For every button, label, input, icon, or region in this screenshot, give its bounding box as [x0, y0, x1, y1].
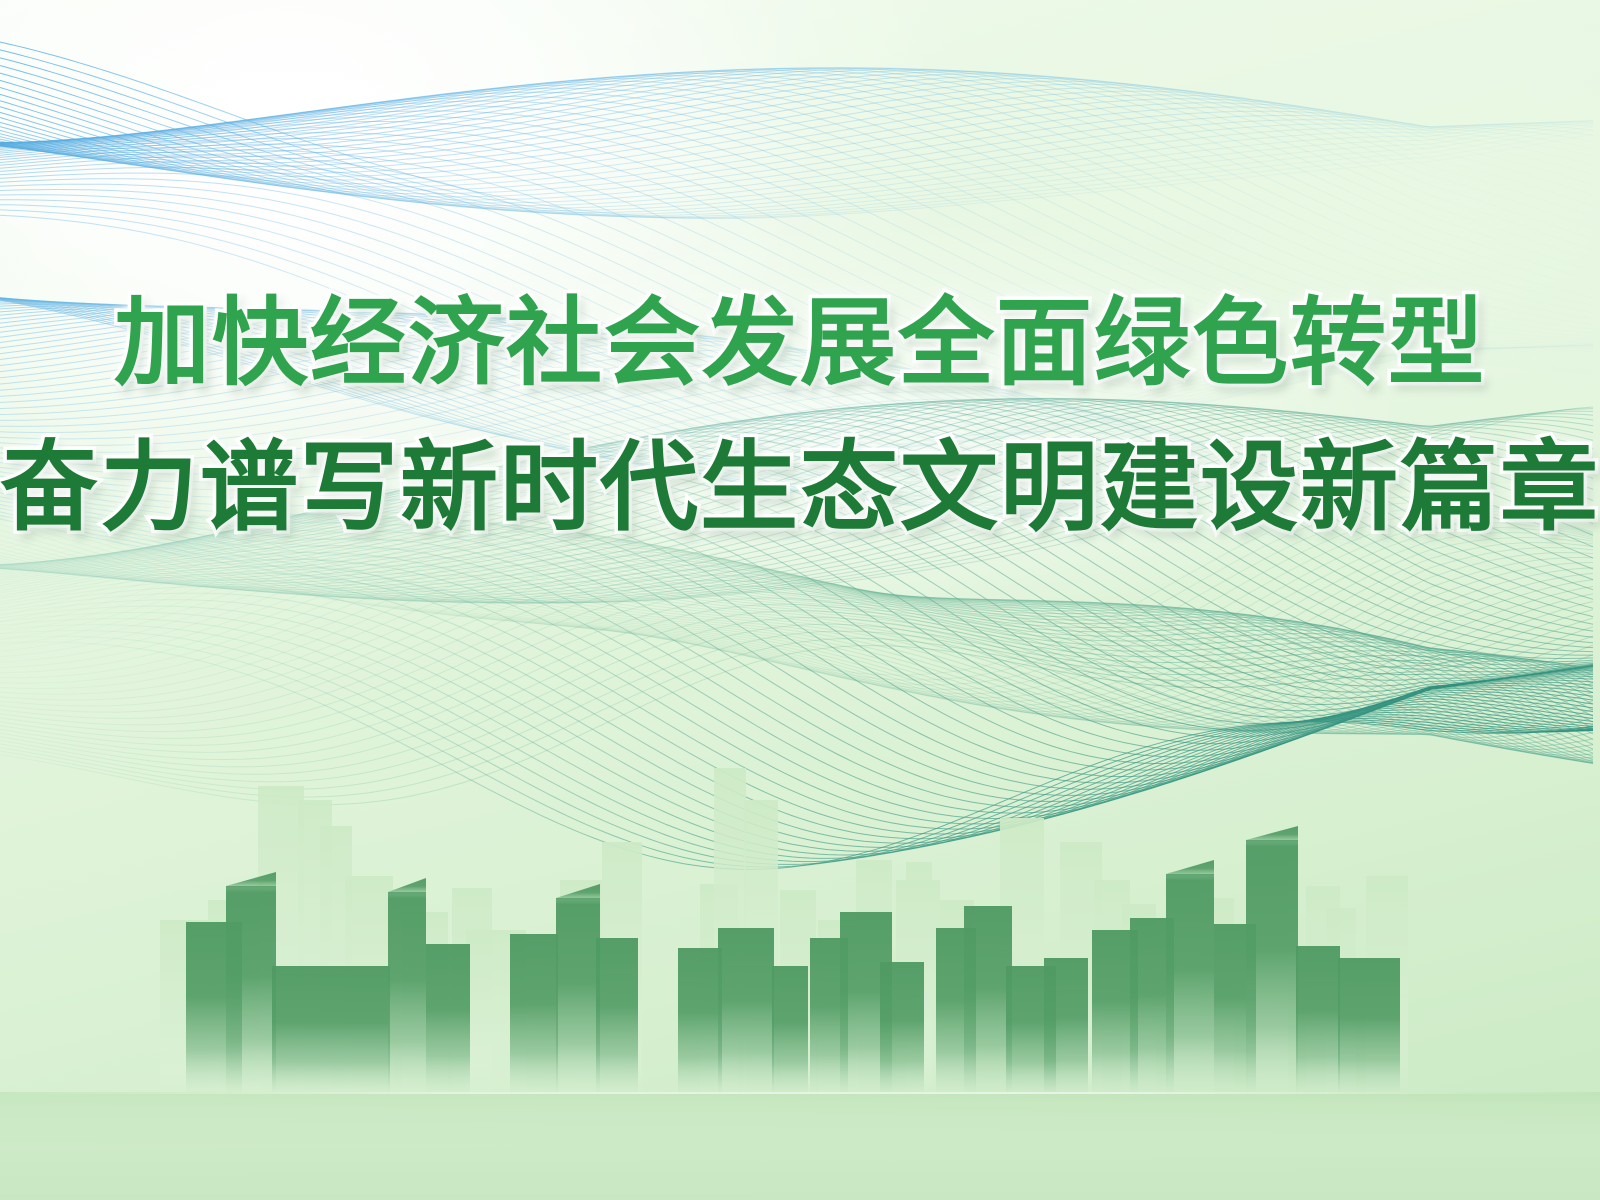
mesh-line [0, 424, 1593, 675]
poster-canvas: 加快经济社会发展全面绿色转型 奋力谱写新时代生态文明建设新篇章 [0, 0, 1600, 1200]
mesh-line [0, 103, 1593, 191]
mesh-line [0, 515, 1593, 733]
mesh-line [0, 517, 1593, 694]
mesh-line [0, 115, 1593, 200]
mesh-line [0, 519, 1593, 750]
city-skyline-silhouette [0, 0, 1600, 1200]
mesh-line [0, 518, 1593, 783]
mesh-line [0, 303, 1593, 508]
mesh-line [0, 517, 1593, 725]
building [1326, 908, 1356, 1100]
mesh-line [0, 309, 1593, 523]
mesh-line [0, 409, 1593, 659]
mesh-line [0, 646, 1593, 805]
mesh-line [0, 392, 1593, 581]
mesh-line [0, 446, 1593, 705]
mesh-line [0, 420, 1593, 601]
mesh-line [0, 580, 1593, 834]
mesh-line [0, 423, 1593, 570]
mesh-line [0, 299, 1593, 464]
building-roof [1166, 860, 1214, 880]
mesh-line [0, 101, 1593, 356]
mesh-line [0, 399, 1593, 590]
mesh-line [0, 516, 1593, 702]
mesh-line [0, 515, 1593, 734]
ground-plane [0, 1092, 1600, 1200]
mesh-line [0, 502, 1593, 680]
building [1168, 872, 1200, 1100]
mesh-line [0, 308, 1593, 521]
mesh-line [0, 408, 1593, 594]
mesh-line [0, 403, 1593, 648]
mesh-line [0, 511, 1593, 776]
mesh-line [0, 532, 1593, 764]
mesh-line [0, 88, 1593, 213]
mesh-line [0, 341, 1593, 574]
mesh-line [0, 210, 1593, 449]
building [1044, 958, 1088, 1100]
mesh-line [0, 88, 1593, 344]
mesh-line [0, 91, 1593, 185]
mesh-line [0, 399, 1593, 624]
mesh-line [0, 99, 1593, 187]
building [345, 876, 393, 1100]
mesh-line [0, 300, 1593, 459]
mesh-line [0, 80, 1593, 214]
headline-line-2: 奋力谱写新时代生态文明建设新篇章 [0, 438, 1600, 536]
building [896, 880, 940, 1100]
mesh-line [0, 309, 1593, 525]
mesh-line [0, 81, 1593, 217]
building [780, 890, 816, 1100]
center-glow [260, 210, 1410, 640]
mesh-line [0, 485, 1593, 750]
mesh-line [0, 517, 1593, 723]
building [1122, 904, 1156, 1100]
building-roof [1246, 826, 1298, 846]
building [744, 800, 778, 1100]
building [556, 898, 600, 1100]
building [772, 966, 808, 1100]
mesh-line [0, 419, 1593, 603]
building [940, 900, 974, 1100]
mesh-line [0, 372, 1593, 584]
mesh-line [0, 68, 1593, 313]
mesh-line [0, 107, 1593, 194]
mesh-line [0, 617, 1593, 774]
building [840, 912, 892, 1100]
mesh-line [0, 73, 1593, 333]
mesh-line [0, 97, 1593, 350]
mesh-line [0, 411, 1593, 596]
building [1006, 966, 1056, 1100]
mesh-line [0, 552, 1593, 813]
mesh-line [0, 317, 1593, 538]
mesh-line [0, 162, 1593, 417]
building-roof [556, 884, 600, 904]
mesh-line [0, 116, 1593, 373]
building [1214, 924, 1256, 1100]
mesh-line [0, 624, 1593, 782]
mesh-line [0, 307, 1593, 518]
mesh-line [0, 515, 1593, 734]
mesh-line [0, 517, 1593, 728]
mesh-line [0, 299, 1593, 470]
mesh-line [0, 638, 1593, 797]
mesh-line [0, 556, 1593, 745]
building [402, 912, 448, 1100]
mesh-line [0, 566, 1593, 824]
mesh-line [0, 428, 1593, 681]
mesh-line [0, 400, 1593, 637]
mesh-line [0, 401, 1593, 643]
mesh-line [0, 441, 1593, 698]
mesh-line [0, 325, 1593, 551]
mesh-line [0, 592, 1593, 745]
mesh-line [0, 409, 1593, 594]
mesh-line [0, 516, 1593, 717]
mesh-line [0, 167, 1593, 421]
mesh-line [0, 76, 1593, 239]
mesh-line [0, 497, 1593, 675]
mesh-line [0, 304, 1593, 511]
building [1092, 930, 1138, 1100]
mesh-line [0, 72, 1593, 330]
mesh-line [0, 420, 1593, 672]
mesh-line [0, 521, 1593, 755]
mesh-line [0, 360, 1593, 583]
mesh-line [0, 205, 1593, 447]
mesh-line [0, 403, 1593, 588]
mesh-line [0, 407, 1593, 576]
mesh-line [0, 436, 1593, 692]
building [906, 862, 932, 1100]
mesh-line [0, 422, 1593, 602]
mesh-line [0, 414, 1593, 665]
mesh-line [0, 398, 1593, 608]
mesh-line [0, 575, 1593, 725]
mesh-line [0, 150, 1593, 407]
mesh-line [0, 527, 1593, 762]
mesh-line [0, 544, 1593, 757]
mesh-line [0, 479, 1593, 744]
mesh-line [0, 195, 1593, 442]
mesh-line [0, 565, 1593, 734]
top-left-glow [0, 0, 840, 600]
building [936, 928, 976, 1100]
mesh-line [0, 625, 1593, 862]
mesh-line [0, 314, 1593, 534]
mesh-line [0, 516, 1593, 738]
mesh-line [0, 416, 1593, 603]
building [560, 880, 602, 1100]
mesh-line [0, 76, 1593, 337]
mesh-line [0, 462, 1593, 724]
mesh-line [0, 573, 1593, 829]
mesh-line [0, 560, 1593, 739]
mesh-line [0, 112, 1593, 202]
mesh-line [0, 458, 1593, 558]
mesh-line [0, 122, 1593, 379]
mesh-line [0, 587, 1593, 839]
mesh-line [0, 327, 1593, 556]
building [1094, 880, 1130, 1100]
mesh-line [0, 399, 1593, 631]
mesh-line [0, 106, 1593, 362]
mesh-line [0, 411, 1593, 603]
mesh-line [0, 606, 1593, 851]
mesh-line [0, 402, 1593, 587]
mesh-line [0, 215, 1593, 450]
mesh-line [0, 111, 1593, 197]
mesh-line [0, 532, 1593, 796]
mesh-line [0, 515, 1593, 733]
mesh-line [0, 406, 1593, 592]
mesh-line [0, 537, 1593, 761]
mesh-line [0, 432, 1593, 686]
mesh-line [0, 440, 1593, 563]
mesh-line [0, 184, 1593, 434]
mesh-line [0, 496, 1593, 594]
mesh-line [0, 515, 1593, 705]
building [298, 800, 332, 1100]
building [856, 860, 892, 1100]
mesh-line [0, 417, 1593, 669]
mesh-line [0, 559, 1593, 818]
mesh-line [0, 467, 1593, 730]
mesh-line [0, 345, 1593, 577]
mesh-line [0, 298, 1593, 489]
building [1200, 898, 1234, 1100]
building [1296, 946, 1340, 1100]
blue-wave-mesh-ribbon [0, 0, 1600, 1200]
building [810, 938, 848, 1100]
building [272, 966, 390, 1100]
mesh-line [0, 73, 1593, 216]
mesh-line [0, 642, 1593, 870]
mesh-line [0, 92, 1593, 345]
mesh-line [0, 179, 1593, 431]
headline-line-1: 加快经济社会发展全面绿色转型 [0, 296, 1600, 392]
mesh-line [0, 529, 1593, 763]
mesh-line [0, 523, 1593, 758]
mesh-line [0, 70, 1593, 325]
mesh-line [0, 534, 1593, 763]
mesh-line [0, 68, 1593, 306]
mesh-line [0, 400, 1593, 583]
headline-block: 加快经济社会发展全面绿色转型 奋力谱写新时代生态文明建设新篇章 [0, 296, 1600, 536]
mesh-line [0, 518, 1593, 747]
mesh-line [0, 516, 1593, 730]
building [510, 934, 558, 1100]
mesh-line [0, 636, 1593, 867]
mesh-line [0, 322, 1593, 546]
mesh-line [0, 200, 1593, 445]
mesh-line [0, 95, 1593, 184]
mesh-line [0, 320, 1593, 542]
mesh-line [0, 69, 1593, 280]
mesh-line [0, 612, 1593, 855]
mesh-line [0, 631, 1593, 789]
mesh-line [0, 85, 1593, 343]
mesh-line [0, 409, 1593, 603]
mesh-line [0, 190, 1593, 439]
mesh-line [0, 94, 1593, 210]
mesh-line [0, 298, 1593, 492]
mesh-line [0, 50, 1593, 218]
mesh-line [0, 66, 1593, 217]
building [1246, 840, 1298, 1100]
mesh-line [0, 525, 1593, 789]
mesh-line [0, 539, 1593, 802]
mesh-line [0, 548, 1593, 754]
building-roof [226, 872, 276, 892]
mesh-line [0, 406, 1593, 655]
building [1166, 874, 1214, 1100]
mesh-line [0, 311, 1593, 528]
building [596, 938, 638, 1100]
building [452, 888, 492, 1100]
mesh-line [0, 477, 1593, 576]
mesh-line [0, 600, 1593, 848]
mesh-line [0, 144, 1593, 401]
mesh-line [0, 586, 1593, 738]
mesh-line [0, 515, 1593, 732]
mesh-line [0, 517, 1593, 729]
building [818, 920, 858, 1100]
mesh-line [0, 318, 1593, 540]
mesh-line [0, 399, 1593, 579]
mesh-line [0, 78, 1593, 228]
building [1248, 860, 1288, 1100]
building [258, 786, 304, 1100]
mesh-line [0, 516, 1593, 712]
mesh-line [0, 305, 1593, 513]
building [1306, 886, 1340, 1100]
building [186, 922, 242, 1100]
mesh-line [0, 404, 1593, 590]
mesh-line [0, 520, 1593, 752]
building [320, 826, 352, 1100]
mesh-line [0, 58, 1593, 218]
mesh-line [0, 302, 1593, 506]
mesh-line [0, 84, 1593, 206]
mesh-line [0, 299, 1593, 499]
mesh-line [0, 72, 1593, 261]
mesh-line [0, 68, 1593, 298]
mesh-line [0, 516, 1593, 732]
mesh-line [0, 517, 1593, 720]
mesh-line [0, 525, 1593, 761]
mesh-line [0, 366, 1593, 584]
mesh-line [0, 42, 1593, 218]
mesh-line [0, 69, 1593, 319]
mesh-line [0, 299, 1593, 497]
mesh-line [0, 411, 1593, 662]
mesh-line [0, 570, 1593, 728]
mesh-line [0, 604, 1593, 759]
mesh-line [0, 312, 1593, 530]
mesh-line [0, 515, 1593, 734]
building [714, 768, 746, 1100]
mesh-line [0, 81, 1593, 341]
mesh-line [0, 619, 1593, 859]
mesh-line [0, 516, 1593, 740]
mesh-line [0, 156, 1593, 412]
mesh-line [0, 337, 1593, 570]
mesh-line [0, 407, 1593, 602]
building [466, 930, 526, 1100]
building [1366, 876, 1408, 1100]
mesh-line [0, 415, 1593, 573]
mesh-line [0, 355, 1593, 582]
mesh-line [0, 88, 1593, 196]
mesh-line [0, 413, 1593, 597]
mesh-line [0, 298, 1593, 485]
building [226, 886, 276, 1100]
mesh-line [0, 111, 1593, 367]
mesh-line [0, 516, 1593, 698]
mesh-line [0, 515, 1593, 734]
horizon-line [0, 1092, 1600, 1094]
mesh-line [0, 68, 1593, 289]
mesh-line [0, 517, 1593, 727]
mesh-line [0, 301, 1593, 503]
mesh-line [0, 378, 1593, 583]
mesh-line [0, 330, 1593, 561]
mesh-line [0, 593, 1593, 843]
mesh-line [0, 473, 1593, 737]
mesh-line [0, 133, 1593, 391]
mesh-line [0, 399, 1593, 600]
building [1130, 918, 1174, 1100]
mesh-line [0, 173, 1593, 426]
mesh-line [0, 468, 1593, 568]
mesh-line [0, 505, 1593, 770]
mesh-line [0, 515, 1593, 708]
mesh-line [0, 456, 1593, 717]
mesh-line [0, 598, 1593, 752]
building [1338, 958, 1400, 1100]
mesh-line [0, 512, 1593, 689]
mesh-line [0, 334, 1593, 566]
mesh-line [0, 498, 1593, 763]
mesh-line [0, 517, 1593, 744]
mesh-line [0, 487, 1593, 585]
mesh-line [0, 515, 1593, 734]
mesh-line [0, 401, 1593, 585]
teal-wave-mesh-ribbon [0, 0, 1600, 1200]
mesh-line [0, 70, 1593, 271]
building [602, 842, 642, 1100]
mesh-line [0, 515, 1593, 734]
mesh-line [0, 385, 1593, 583]
building [160, 920, 220, 1100]
mesh-line [0, 552, 1593, 750]
mesh-line [0, 541, 1593, 760]
building [1060, 842, 1102, 1100]
mesh-line [0, 451, 1593, 711]
mesh-line [0, 449, 1593, 559]
mesh-line [0, 422, 1593, 603]
mesh-line [0, 432, 1593, 567]
building [1000, 818, 1044, 1100]
mesh-line [0, 611, 1593, 767]
mesh-line [0, 315, 1593, 535]
mesh-line [0, 298, 1593, 475]
building [678, 948, 722, 1100]
mesh-line [0, 310, 1593, 526]
